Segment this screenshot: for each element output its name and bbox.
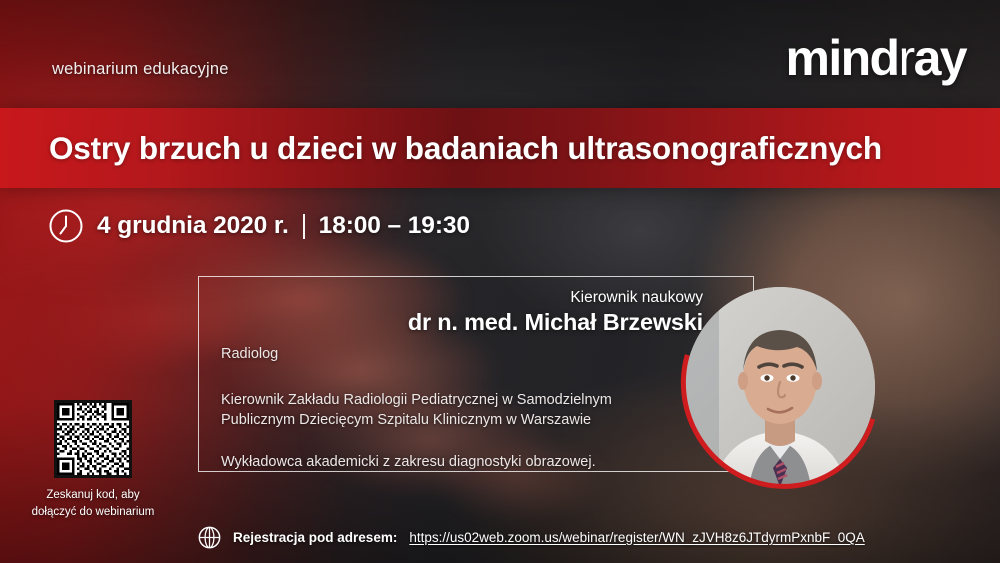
speaker-name: dr n. med. Michał Brzewski: [408, 309, 703, 336]
speaker-specialty: Radiolog: [221, 347, 661, 362]
event-date: 4 grudnia 2020 r.: [97, 212, 289, 240]
event-time: 18:00 – 19:30: [319, 212, 470, 240]
speaker-card: Kierownik naukowy dr n. med. Michał Brze…: [198, 276, 754, 472]
globe-icon: [198, 526, 221, 549]
qr-caption-line2: dołączyć do webinarium: [32, 506, 155, 518]
title-band: Ostry brzuch u dzieci w badaniach ultras…: [0, 108, 1000, 188]
speaker-affiliation-line2: Publicznym Dziecięcym Szpitalu Kliniczny…: [221, 410, 661, 431]
header: webinarium edukacyjne mindray: [0, 0, 1000, 104]
speaker-affiliation-line1: Kierownik Zakładu Radiologii Pediatryczn…: [221, 390, 661, 411]
mindray-logo: mindray: [785, 33, 966, 83]
schedule-text: 4 grudnia 2020 r. 18:00 – 19:30: [97, 212, 470, 240]
registration-link[interactable]: https://us02web.zoom.us/webinar/register…: [409, 530, 864, 545]
speaker-bio: Radiolog Kierownik Zakładu Radiologii Pe…: [221, 347, 661, 469]
logo-text-main: mind: [785, 30, 898, 86]
qr-code-icon[interactable]: [54, 400, 132, 478]
kicker-label: webinarium edukacyjne: [52, 60, 229, 79]
qr-caption-line1: Zeskanuj kod, aby: [46, 489, 139, 501]
clock-icon: [48, 208, 84, 244]
webinar-poster: webinarium edukacyjne mindray Ostry brzu…: [0, 0, 1000, 563]
qr-block: Zeskanuj kod, aby dołączyć do webinarium: [18, 400, 168, 520]
speaker-lecturer: Wykładowca akademicki z zakresu diagnost…: [221, 455, 661, 470]
logo-text-tail: ay: [914, 30, 966, 86]
speaker-portrait: [682, 284, 878, 490]
registration-row: Rejestracja pod adresem: https://us02web…: [198, 526, 865, 549]
schedule-row: 4 grudnia 2020 r. 18:00 – 19:30: [48, 208, 470, 244]
page-title: Ostry brzuch u dzieci w badaniach ultras…: [49, 130, 882, 167]
qr-caption: Zeskanuj kod, aby dołączyć do webinarium: [18, 487, 168, 520]
logo-text-accent: r: [899, 30, 914, 86]
speaker-affiliation: Kierownik Zakładu Radiologii Pediatryczn…: [221, 390, 661, 431]
registration-label: Rejestracja pod adresem:: [233, 530, 397, 545]
portrait-accent-arc: [645, 250, 915, 524]
schedule-divider: [303, 214, 305, 239]
